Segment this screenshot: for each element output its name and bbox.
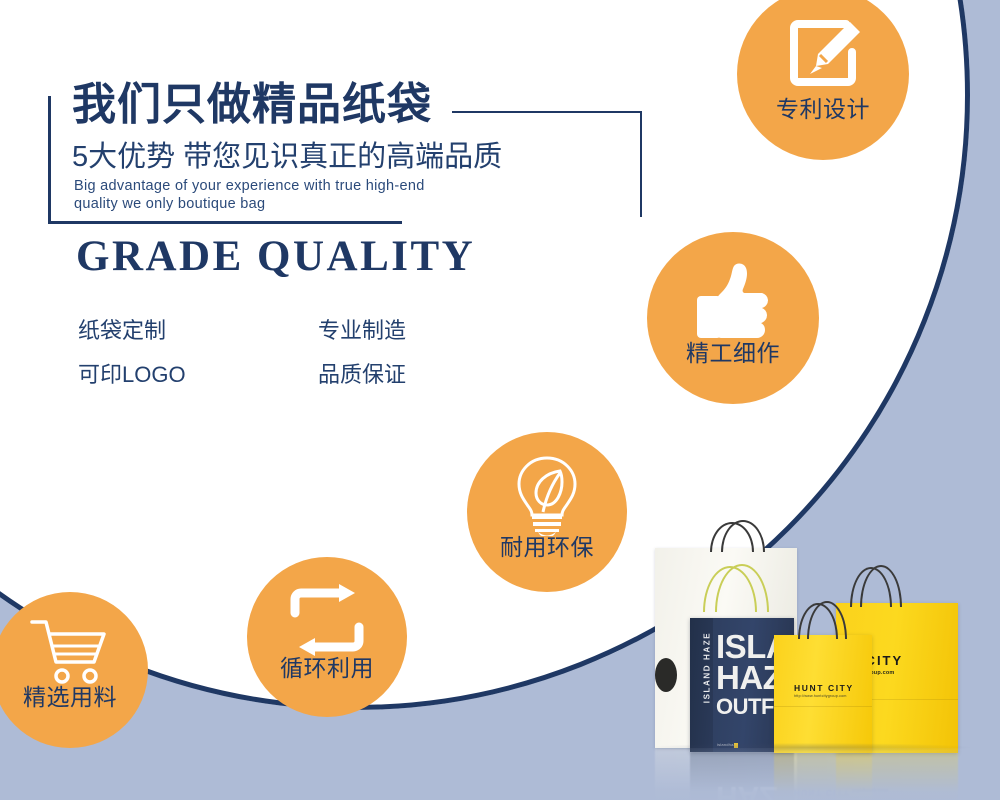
promo-banner: 我们只做精品纸袋 5大优势 带您见识真正的高端品质 Big advantage … (0, 0, 1000, 800)
product-bag-yellow-front: HUNT CITY http://www.huntcitygroup.com (774, 635, 872, 753)
badge-label: 精选用料 (23, 686, 117, 709)
grade-quality-title: GRADE QUALITY (76, 235, 475, 278)
feature-item-manufacture: 专业制造 (318, 320, 498, 342)
page-subtitle: 5大优势 带您见识真正的高端品质 (72, 143, 502, 172)
heading-frame-right-rule (640, 111, 642, 217)
badge-fine-craft: 精工细作 (647, 232, 819, 404)
badge-recycle: 循环利用 (247, 557, 407, 717)
page-title: 我们只做精品纸袋 (72, 83, 432, 127)
feature-item-quality: 品质保证 (318, 364, 498, 386)
badge-label: 耐用环保 (500, 536, 594, 559)
bag-side-shadow (655, 658, 677, 692)
bag-side-panel: ISLAND HAZE (690, 618, 713, 752)
bag-brand-logo: HUNT CITY (794, 683, 854, 693)
heading-frame-top-rule (452, 111, 642, 113)
feature-word-grid: 纸袋定制 专业制造 可印LOGO 品质保证 (78, 320, 498, 408)
feature-row: 纸袋定制 专业制造 (78, 320, 498, 342)
product-photo-paper-bags: HAZ HUNT CITY tcitygroup.com ISLAND HAZE… (640, 505, 1000, 800)
design-pen-icon (780, 16, 866, 98)
recycle-arrows-icon (285, 583, 369, 657)
thumbs-up-icon (687, 258, 779, 342)
bag-side-brand-text: ISLAND HAZE (703, 621, 712, 715)
feature-row: 可印LOGO 品质保证 (78, 364, 498, 386)
page-subtitle-english: Big advantage of your experience with tr… (74, 177, 554, 213)
badge-label: 精工细作 (686, 342, 780, 365)
feature-item-custom: 纸袋定制 (78, 320, 318, 342)
subtitle-english-line-1: Big advantage of your experience with tr… (74, 178, 425, 194)
shopping-cart-icon (28, 616, 112, 686)
badge-eco-durable: 耐用环保 (467, 432, 627, 592)
feature-item-logo: 可印LOGO (78, 364, 318, 386)
badge-label: 专利设计 (776, 98, 870, 121)
reflection-fade-overlay (640, 748, 1000, 800)
lightbulb-leaf-icon (508, 454, 586, 536)
heading-frame-left-rule (48, 96, 51, 224)
subtitle-english-line-2: quality we only boutique bag (74, 196, 265, 212)
bag-crease (774, 706, 872, 707)
badge-label: 循环利用 (280, 657, 374, 680)
heading-frame-bottom-rule (48, 221, 402, 224)
bag-brand-url: http://www.huntcitygroup.com (794, 694, 847, 698)
